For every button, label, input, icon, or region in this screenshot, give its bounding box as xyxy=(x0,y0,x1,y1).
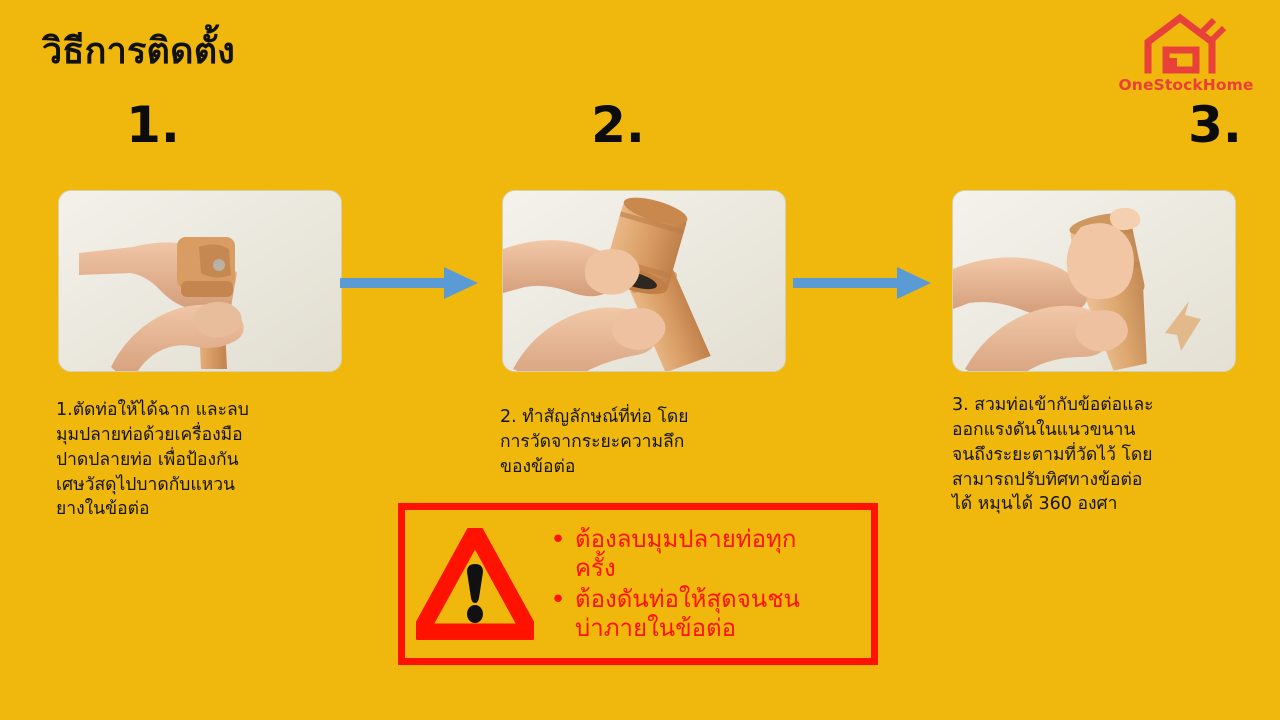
hands-chamfering-pipe-photo xyxy=(58,190,342,372)
step-3-caption: 3. สวมท่อเข้ากับข้อต่อและ ออกแรงดันในแนว… xyxy=(952,393,1240,517)
warning-item-1-text: ต้องลบมุมปลายท่อทุก ครั้ง xyxy=(575,525,865,584)
warning-triangle-icon xyxy=(405,528,541,640)
right-arrow-icon xyxy=(340,265,480,301)
step-3: 3. xyxy=(930,100,1230,160)
brand-name: OneStockHome xyxy=(1119,76,1254,94)
bullet-icon: • xyxy=(541,525,575,556)
warning-box: • ต้องลบมุมปลายท่อทุก ครั้ง • ต้องดันท่อ… xyxy=(398,503,878,665)
warning-list: • ต้องลบมุมปลายท่อทุก ครั้ง • ต้องดันท่อ… xyxy=(541,522,871,646)
step-1: 1. xyxy=(38,100,338,160)
warning-list-item: • ต้องลบมุมปลายท่อทุก ครั้ง xyxy=(541,525,865,584)
step-2: 2. xyxy=(483,100,783,160)
bullet-icon: • xyxy=(541,585,575,616)
hands-pushing-pipe-into-fitting-photo xyxy=(952,190,1236,372)
step-2-caption: 2. ทำสัญลักษณ์ที่ท่อ โดย การวัดจากระยะคว… xyxy=(500,405,788,480)
warning-item-2-text: ต้องดันท่อให้สุดจนชน บ่าภายในข้อต่อ xyxy=(575,585,865,644)
step-2-number: 2. xyxy=(468,100,768,160)
right-arrow-icon xyxy=(793,265,933,301)
step-1-number: 1. xyxy=(3,100,303,160)
page-title: วิธีการติดตั้ง xyxy=(42,30,235,73)
house-icon xyxy=(1140,12,1232,74)
hands-measuring-fitting-depth-photo xyxy=(502,190,786,372)
step-3-number: 3. xyxy=(1065,100,1280,160)
step-1-caption: 1.ตัดท่อให้ได้ฉาก และลบ มุมปลายท่อด้วยเค… xyxy=(56,398,344,522)
slide-canvas: วิธีการติดตั้ง OneStockHome 1. xyxy=(0,0,1280,720)
warning-list-item: • ต้องดันท่อให้สุดจนชน บ่าภายในข้อต่อ xyxy=(541,585,865,644)
brand-logo: OneStockHome xyxy=(1110,12,1262,108)
